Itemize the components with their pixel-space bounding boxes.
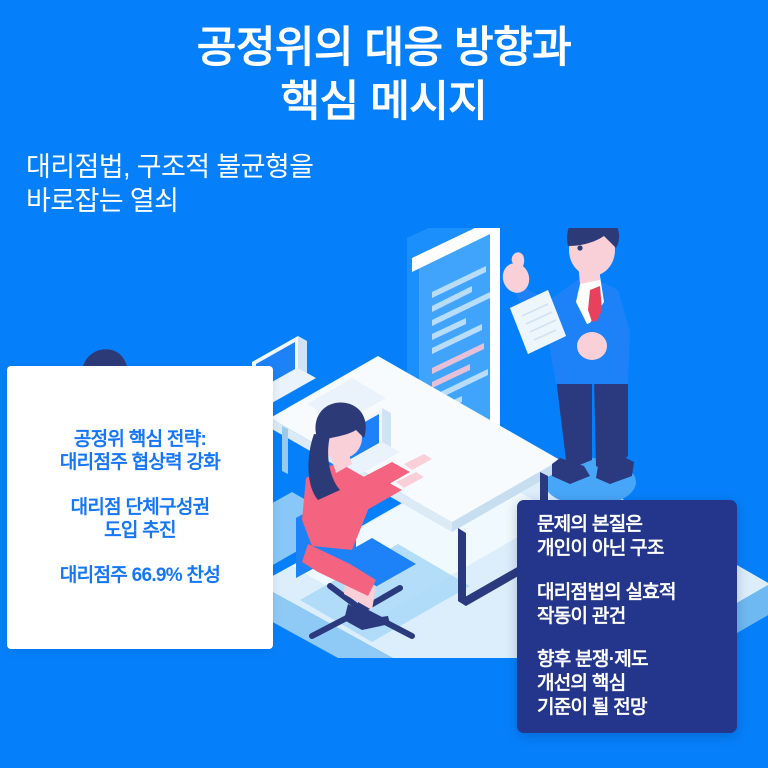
- core-message-block-2: 대리점법의 실효적 작동이 관건: [537, 581, 737, 629]
- page-title: 공정위의 대응 방향과 핵심 메시지: [0, 0, 768, 130]
- core-message-block-3: 향후 분쟁·제도 개선의 핵심 기준이 될 전망: [537, 648, 737, 720]
- key-strategy-line-2: 대리점주 협상력 강화: [60, 451, 220, 474]
- core-message-line-5: 향후 분쟁·제도: [537, 648, 737, 672]
- key-strategy-line-1: 공정위 핵심 전략:: [60, 428, 220, 451]
- core-message-line-1: 문제의 본질은: [537, 513, 737, 537]
- page-subtitle-line-2: 바로잡는 열쇠: [26, 184, 768, 219]
- key-strategy-block-2: 대리점 단체구성권 도입 추진: [71, 496, 210, 542]
- key-strategy-card: 공정위 핵심 전략: 대리점주 협상력 강화 대리점 단체구성권 도입 추진 대…: [7, 366, 273, 649]
- core-message-line-2: 개인이 아닌 구조: [537, 537, 737, 561]
- core-message-line-6: 개선의 핵심: [537, 672, 737, 696]
- key-strategy-line-4: 도입 추진: [71, 519, 210, 542]
- key-strategy-block-1: 공정위 핵심 전략: 대리점주 협상력 강화: [60, 428, 220, 474]
- key-strategy-line-3: 대리점 단체구성권: [71, 496, 210, 519]
- page-title-line-1: 공정위의 대응 방향과: [40, 22, 728, 76]
- core-message-line-4: 작동이 관건: [537, 605, 737, 629]
- page-subtitle: 대리점법, 구조적 불균형을 바로잡는 열쇠: [0, 130, 768, 219]
- infographic-canvas: 공정위의 대응 방향과 핵심 메시지 대리점법, 구조적 불균형을 바로잡는 열…: [0, 0, 768, 768]
- page-subtitle-line-1: 대리점법, 구조적 불균형을: [26, 150, 768, 185]
- core-message-line-7: 기준이 될 전망: [537, 696, 737, 720]
- key-strategy-stat: 대리점주 66.9% 찬성: [60, 564, 220, 587]
- core-message-card: 문제의 본질은 개인이 아닌 구조 대리점법의 실효적 작동이 관건 향후 분쟁…: [517, 500, 737, 733]
- page-title-line-2: 핵심 메시지: [40, 76, 728, 130]
- core-message-line-3: 대리점법의 실효적: [537, 581, 737, 605]
- key-strategy-block-3: 대리점주 66.9% 찬성: [60, 564, 220, 587]
- core-message-block-1: 문제의 본질은 개인이 아닌 구조: [537, 513, 737, 561]
- header-block: 공정위의 대응 방향과 핵심 메시지 대리점법, 구조적 불균형을 바로잡는 열…: [0, 0, 768, 219]
